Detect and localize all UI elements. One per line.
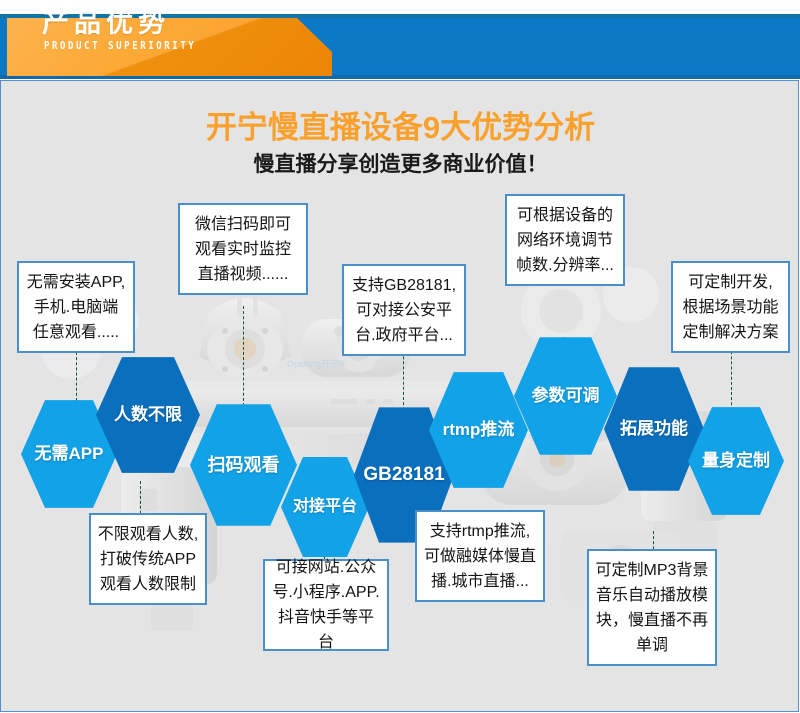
callout-tailor-made-note: 可定制开发, 根据场景功能 定制解决方案 — [671, 261, 790, 353]
hexagon-label: 扫码观看 — [204, 455, 284, 476]
callout-text: 微信扫码即可 观看实时监控 直播视频...... — [195, 212, 291, 287]
hexagon-extend-func[interactable]: 拓展功能 — [604, 366, 704, 492]
hexagon-label: 参数可调 — [528, 386, 604, 406]
callout-gb28181-note: 支持GB28181, 可对接公安平 台.政府平台... — [342, 264, 466, 356]
callout-rtmp-push-note: 支持rtmp推流, 可做融媒体慢直 播.城市直播... — [415, 510, 545, 602]
callout-text: 可定制开发, 根据场景功能 定制解决方案 — [682, 270, 778, 345]
callout-text: 可接网站.公众 号.小程序.APP. 抖音快手等平台 — [271, 555, 381, 655]
hexagon-label: 人数不限 — [110, 405, 186, 425]
page-subtitle: 慢直播分享创造更多商业价值！ — [1, 151, 799, 179]
callout-text: 支持GB28181, 可对接公安平 台.政府平台... — [352, 273, 456, 348]
callout-text: 支持rtmp推流, 可做融媒体慢直 播.城市直播... — [424, 519, 536, 594]
hexagon-label: 无需APP — [31, 444, 108, 464]
hexagon-label: 拓展功能 — [616, 419, 692, 439]
connector-scan-watch — [243, 306, 244, 406]
infographic-page: 产品优势 PRODUCT SUPERIORITY — [0, 0, 800, 713]
hexagon-tailor-made[interactable]: 量身定制 — [688, 406, 784, 516]
callout-extend-func-note: 可定制MP3背景 音乐自动播放模 块，慢直播不再 单调 — [587, 549, 717, 666]
hexagon-label: 量身定制 — [698, 451, 774, 471]
callout-text: 可定制MP3背景 音乐自动播放模 块，慢直播不再 单调 — [596, 558, 709, 658]
banner-title-cn: 产品优势 — [42, 6, 170, 40]
content-panel: Opening开宁® Opening开宁® 开宁慢直播设备9大优势分析 慢直播分… — [0, 80, 799, 712]
callout-text: 可根据设备的 网络环境调节 帧数.分辨率... — [516, 203, 614, 278]
hexagon-scan-watch[interactable]: 扫码观看 — [190, 403, 297, 527]
callout-platform-dock-note: 可接网站.公众 号.小程序.APP. 抖音快手等平台 — [263, 559, 389, 651]
callout-param-adjust-note: 可根据设备的 网络环境调节 帧数.分辨率... — [505, 194, 625, 286]
callout-text: 不限观看人数, 打破传统APP 观看人数限制 — [98, 522, 198, 597]
hexagon-label: 对接平台 — [289, 498, 361, 516]
hexagon-label: rtmp推流 — [439, 420, 519, 440]
callout-text: 无需安装APP, 手机.电脑端 任意观看..... — [27, 270, 125, 345]
hexagon-label: GB28181 — [359, 464, 448, 486]
banner-title-en: PRODUCT SUPERIORITY — [44, 40, 196, 54]
svg-text:Opening开宁®: Opening开宁® — [287, 358, 346, 369]
hexagon-param-adjust[interactable]: 参数可调 — [514, 336, 617, 456]
callout-unlimited-note: 不限观看人数, 打破传统APP 观看人数限制 — [89, 513, 207, 605]
callout-scan-watch-note: 微信扫码即可 观看实时监控 直播视频...... — [178, 203, 308, 295]
page-title: 开宁慢直播设备9大优势分析 — [1, 108, 799, 148]
callout-no-app-note: 无需安装APP, 手机.电脑端 任意观看..... — [17, 261, 135, 353]
